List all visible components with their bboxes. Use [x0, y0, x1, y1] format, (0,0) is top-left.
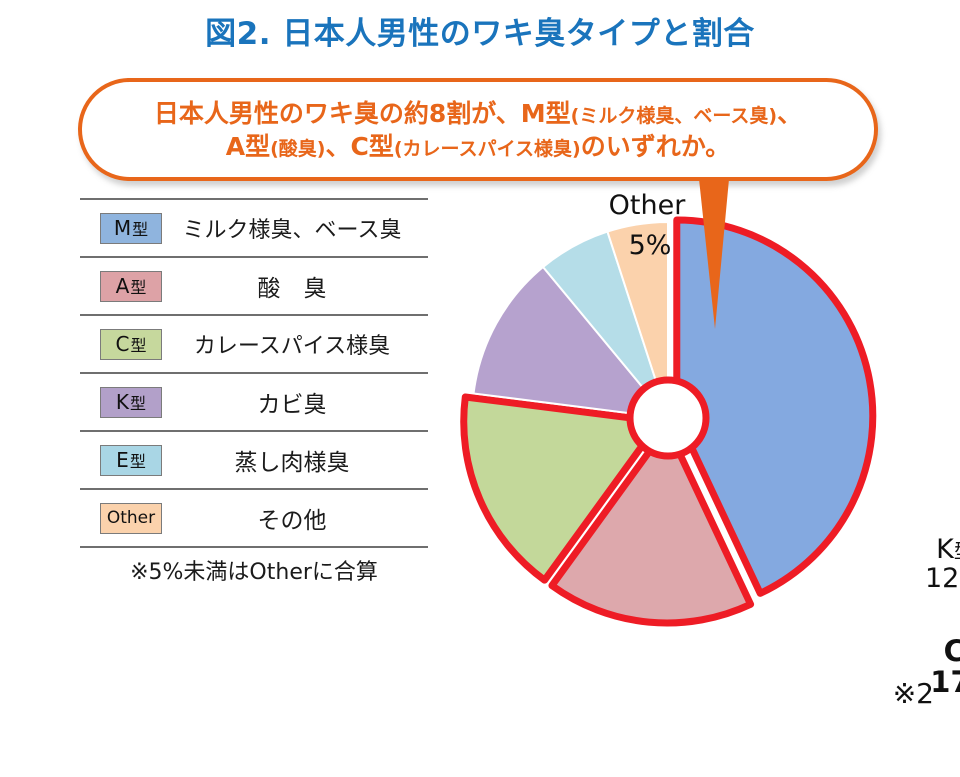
legend-chip-a: A型 [100, 271, 162, 302]
legend-panel: M型 ミルク様臭、ベース臭 A型 酸 臭 C型 カレースパイス様臭 K型 カビ臭… [80, 198, 428, 592]
legend-chip-m: M型 [100, 213, 162, 244]
callout-line-1: 日本人男性のワキ臭の約8割が、M型(ミルク様臭、ベース臭)、 [154, 99, 802, 128]
legend-row-e[interactable]: E型 蒸し肉様臭 [80, 430, 428, 488]
legend-label-other: その他 [162, 501, 428, 535]
page-title: 図2. 日本人男性のワキ臭タイプと割合 [0, 8, 960, 53]
legend-chip-k: K型 [100, 387, 162, 418]
pie-label-e: E型 6% [955, 436, 960, 491]
legend-row-other[interactable]: Other その他 [80, 488, 428, 548]
legend-footnote: ※5%未満はOtherに合算 [80, 548, 428, 592]
callout-line-2: A型(酸臭)、C型(カレースパイス様臭)のいずれか。 [226, 132, 730, 161]
legend-chip-c: C型 [100, 329, 162, 360]
legend-label-c: カレースパイス様臭 [162, 328, 428, 360]
legend-label-a: 酸 臭 [162, 269, 428, 303]
pie-center-hub [630, 380, 706, 456]
legend-row-c[interactable]: C型 カレースパイス様臭 [80, 314, 428, 372]
legend-label-k: カビ臭 [162, 385, 428, 419]
legend-chip-other: Other [100, 503, 162, 534]
legend-row-m[interactable]: M型 ミルク様臭、ベース臭 [80, 198, 428, 256]
source-footnote: ※2 [893, 677, 934, 710]
infographic-canvas: 図2. 日本人男性のワキ臭タイプと割合 日本人男性のワキ臭の約8割が、M型(ミル… [0, 0, 960, 720]
pie-chart-svg [428, 178, 908, 658]
legend-row-k[interactable]: K型 カビ臭 [80, 372, 428, 430]
legend-label-m: ミルク様臭、ベース臭 [162, 212, 428, 244]
callout-box: 日本人男性のワキ臭の約8割が、M型(ミルク様臭、ベース臭)、 A型(酸臭)、C型… [78, 78, 878, 181]
legend-label-e: 蒸し肉様臭 [162, 443, 428, 477]
legend-row-a[interactable]: A型 酸 臭 [80, 256, 428, 314]
pie-chart: M型 43% A型 17% C型 17% K型 12% E型 6% [428, 178, 908, 658]
callout-text: 日本人男性のワキ臭の約8割が、M型(ミルク様臭、ベース臭)、 A型(酸臭)、C型… [154, 97, 802, 163]
legend-chip-e: E型 [100, 445, 162, 476]
